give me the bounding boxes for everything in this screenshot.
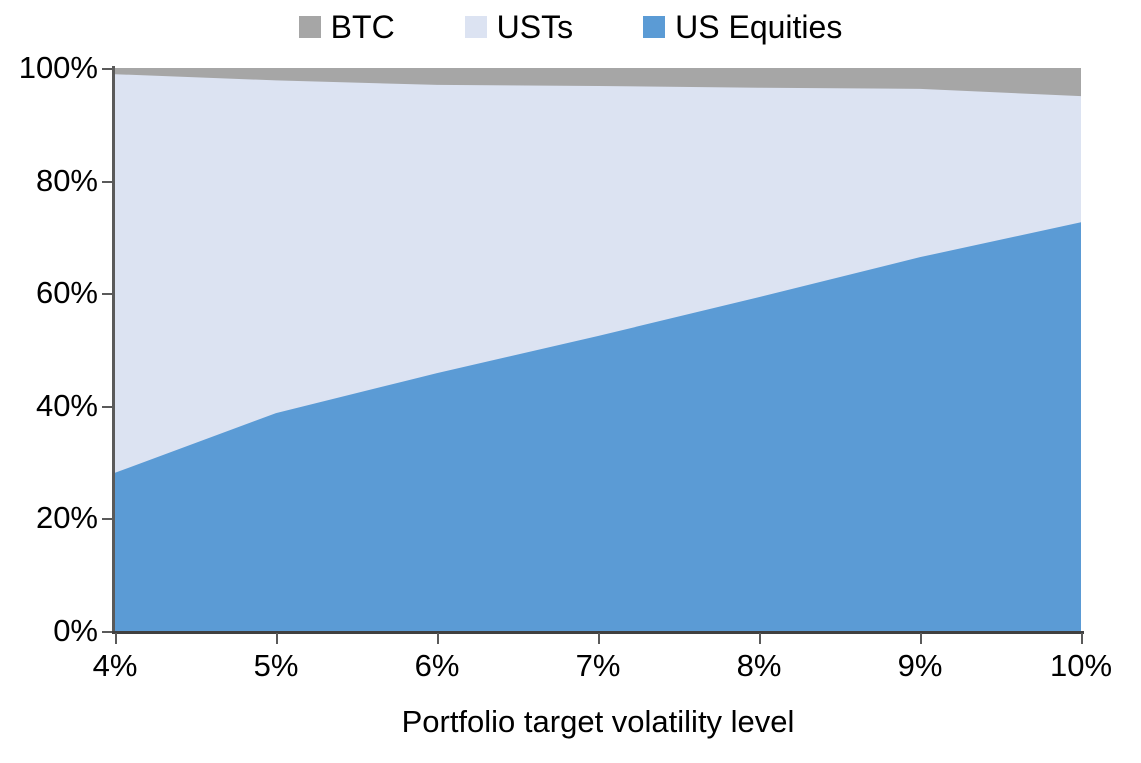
x-axis-tick-mark <box>1081 633 1083 644</box>
plot-area <box>115 68 1081 631</box>
y-axis-tick-mark <box>102 293 112 295</box>
legend-entry-usts: USTs <box>465 11 573 43</box>
y-axis-tick-mark <box>102 518 112 520</box>
y-axis-tick-label: 60% <box>2 277 98 308</box>
legend-swatch-usts-icon <box>465 16 487 38</box>
legend-label-btc: BTC <box>331 11 395 43</box>
stacked-area-chart: BTC USTs US Equities 0%20%40%60%80%100% … <box>0 0 1141 763</box>
x-axis-tick-mark <box>920 633 922 644</box>
x-axis-tick-label: 9% <box>850 650 990 681</box>
legend-label-us-equities: US Equities <box>675 11 842 43</box>
x-axis-tick-label: 10% <box>1011 650 1141 681</box>
y-axis-tick-label: 20% <box>2 502 98 533</box>
y-axis-tick-label: 0% <box>2 615 98 646</box>
y-axis-tick-mark <box>102 68 112 70</box>
y-axis-labels: 0%20%40%60%80%100% <box>0 0 98 763</box>
legend-entry-btc: BTC <box>299 11 395 43</box>
legend-entry-us-equities: US Equities <box>643 11 842 43</box>
area-series-svg <box>115 68 1081 631</box>
y-axis-tick-mark <box>102 406 112 408</box>
legend-swatch-btc-icon <box>299 16 321 38</box>
x-axis-tick-label: 8% <box>689 650 829 681</box>
chart-legend: BTC USTs US Equities <box>0 6 1141 48</box>
x-axis-tick-label: 6% <box>367 650 507 681</box>
x-axis-tick-label: 5% <box>206 650 346 681</box>
y-axis-tick-label: 80% <box>2 165 98 196</box>
legend-swatch-us-equities-icon <box>643 16 665 38</box>
y-axis-line <box>112 66 115 633</box>
x-axis-tick-label: 4% <box>45 650 185 681</box>
y-axis-tick-label: 100% <box>2 52 98 83</box>
y-axis-tick-mark <box>102 181 112 183</box>
y-axis-tick-mark <box>102 631 112 633</box>
x-axis-tick-mark <box>598 633 600 644</box>
x-axis-title: Portfolio target volatility level <box>115 706 1081 737</box>
x-axis-tick-mark <box>437 633 439 644</box>
y-axis-tick-label: 40% <box>2 390 98 421</box>
x-axis-tick-label: 7% <box>528 650 668 681</box>
legend-label-usts: USTs <box>497 11 573 43</box>
x-axis-tick-mark <box>759 633 761 644</box>
x-axis-tick-mark <box>276 633 278 644</box>
x-axis-tick-mark <box>115 633 117 644</box>
